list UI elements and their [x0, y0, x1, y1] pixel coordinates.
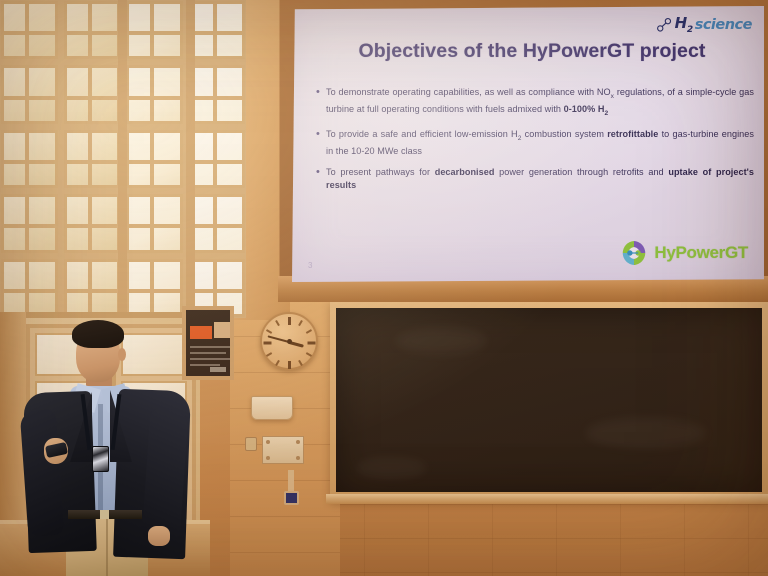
poster-logo	[210, 367, 226, 372]
clock-tick	[298, 320, 303, 326]
window-pane	[189, 194, 246, 252]
clock-tick	[266, 352, 272, 357]
clock-tick	[266, 329, 272, 334]
window-pane	[64, 65, 121, 123]
wall-panel	[262, 436, 304, 464]
window-pane	[189, 130, 246, 188]
blackboard-frame	[330, 301, 768, 501]
hypowergt-logo: HyPowerGT	[619, 238, 748, 268]
slide-bullet: •To present pathways for decarbonised po…	[314, 166, 754, 192]
id-badge	[92, 446, 109, 472]
blackboard	[336, 308, 762, 492]
window-pane	[1, 130, 58, 188]
window-pane	[189, 1, 246, 59]
window-pane	[126, 194, 183, 252]
window-mullion	[118, 0, 127, 318]
window-pane	[126, 259, 183, 317]
clock-tick	[298, 360, 303, 366]
window-pane	[1, 259, 58, 317]
clock-tick	[306, 352, 312, 357]
clock-tick	[288, 317, 291, 325]
bullet-marker-icon: •	[314, 166, 326, 192]
window-pane	[126, 65, 183, 123]
slide-title: Objectives of the HyPowerGT project	[322, 40, 742, 63]
clock-tick	[263, 342, 271, 345]
photo-scene: H2 science Objectives of the HyPowerGT p…	[0, 0, 768, 576]
slide-bullet: •To provide a safe and efficient low-emi…	[314, 128, 754, 158]
slide-bullet: •To demonstrate operating capabilities, …	[314, 86, 754, 120]
clock-center-pin	[287, 339, 292, 344]
bullet-text: To present pathways for decarbonised pow…	[326, 166, 754, 192]
circular-arrows-icon	[619, 238, 649, 268]
molecule-icon	[656, 17, 673, 33]
window-pane	[1, 65, 58, 123]
bullet-marker-icon: •	[314, 86, 326, 120]
clock-tick	[288, 361, 291, 369]
wall-mounted-box	[251, 396, 293, 420]
hand-right	[148, 526, 170, 546]
window-pane	[64, 194, 121, 252]
chalk-ledge	[326, 494, 768, 504]
window-pane	[64, 1, 121, 59]
window-pane	[64, 130, 121, 188]
window-mullion	[186, 0, 195, 318]
h2science-secondary-text: science	[695, 17, 752, 33]
window-pane	[126, 130, 183, 188]
blue-wall-device	[284, 491, 299, 505]
belt-buckle	[100, 510, 109, 519]
clock-tick	[275, 320, 280, 326]
poster-image	[214, 322, 233, 338]
bullet-marker-icon: •	[314, 128, 326, 158]
wall-clock	[260, 312, 318, 370]
clock-tick	[307, 342, 315, 345]
trouser-seam	[106, 518, 108, 576]
clock-tick	[275, 360, 280, 366]
window-pane	[64, 259, 121, 317]
slide-bullet-list: •To demonstrate operating capabilities, …	[314, 86, 754, 201]
wall-socket[interactable]	[245, 437, 257, 451]
window-pane	[1, 194, 58, 252]
hypowergt-wordmark: HyPowerGT	[654, 243, 748, 263]
window-pane	[1, 1, 58, 59]
window-pane	[126, 1, 183, 59]
clock-tick	[306, 329, 312, 334]
ear	[118, 348, 126, 361]
device-mount	[288, 470, 294, 492]
bullet-text: To demonstrate operating capabilities, a…	[326, 86, 754, 120]
hair	[72, 320, 124, 348]
slide-page-number: 3	[308, 261, 312, 270]
bullet-text: To provide a safe and efficient low-emis…	[326, 128, 754, 158]
presenter	[22, 318, 197, 576]
h2science-primary-text: H2	[675, 14, 693, 35]
presentation-slide: H2 science Objectives of the HyPowerGT p…	[292, 6, 764, 282]
window-pane	[189, 65, 246, 123]
window-wall	[0, 0, 246, 318]
h2science-logo: H2 science	[656, 14, 752, 35]
